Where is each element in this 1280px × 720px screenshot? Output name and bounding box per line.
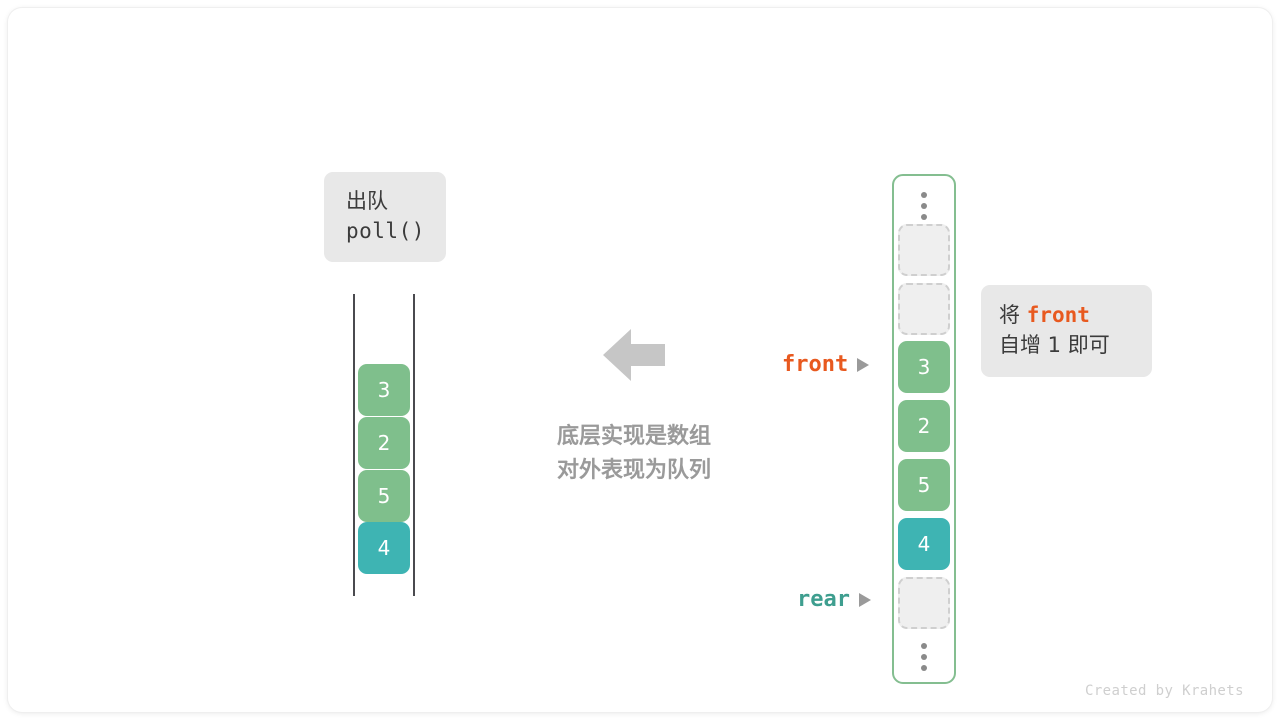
array-cell-value: 4 bbox=[918, 532, 931, 556]
array-cell: 5 bbox=[898, 459, 950, 511]
poll-callout: 出队 poll() bbox=[324, 172, 446, 262]
front-hint-prefix: 将 bbox=[999, 303, 1027, 327]
rear-pointer-text: rear bbox=[797, 587, 850, 612]
queue-cell: 2 bbox=[358, 417, 410, 469]
queue-cell-value: 3 bbox=[378, 378, 391, 402]
queue-cell: 4 bbox=[358, 522, 410, 574]
pointer-triangle-icon bbox=[859, 593, 871, 607]
poll-callout-line1: 出队 bbox=[346, 187, 446, 217]
array-cell-value: 2 bbox=[918, 414, 931, 438]
center-caption: 底层实现是数组 对外表现为队列 bbox=[536, 420, 732, 488]
queue-cell-value: 5 bbox=[378, 484, 391, 508]
queue-rail-right bbox=[413, 294, 415, 596]
top-ellipsis-icon bbox=[921, 192, 927, 220]
array-cell: 4 bbox=[898, 518, 950, 570]
array-cell-value: 5 bbox=[918, 473, 931, 497]
array-cell: 2 bbox=[898, 400, 950, 452]
queue-cell: 5 bbox=[358, 470, 410, 522]
left-arrow-icon bbox=[603, 326, 665, 384]
queue-cell-value: 4 bbox=[378, 536, 391, 560]
array-cell-empty bbox=[898, 224, 950, 276]
array-cell-empty bbox=[898, 577, 950, 629]
center-caption-line2: 对外表现为队列 bbox=[536, 454, 732, 488]
bottom-ellipsis-icon bbox=[921, 643, 927, 671]
front-hint-callout: 将 front 自增 1 即可 bbox=[981, 285, 1152, 377]
array-cell-value: 3 bbox=[918, 355, 931, 379]
front-hint-keyword: front bbox=[1027, 303, 1090, 327]
front-pointer-label: front bbox=[782, 352, 869, 377]
array-cell-empty bbox=[898, 283, 950, 335]
credit-text: Created by Krahets bbox=[1085, 683, 1244, 699]
poll-callout-line2: poll() bbox=[346, 217, 446, 247]
figure-canvas: 出队 poll() 3 2 5 4 底层实现是数组 对外表现为队列 front bbox=[8, 8, 1272, 712]
front-pointer-text: front bbox=[782, 352, 848, 377]
pointer-triangle-icon bbox=[857, 358, 869, 372]
front-hint-line2: 自增 1 即可 bbox=[999, 331, 1152, 361]
array-cell: 3 bbox=[898, 341, 950, 393]
center-caption-line1: 底层实现是数组 bbox=[536, 420, 732, 454]
front-hint-line1: 将 front bbox=[999, 301, 1152, 331]
queue-cell: 3 bbox=[358, 364, 410, 416]
logical-queue: 3 2 5 4 bbox=[353, 294, 415, 596]
array-container: 3 2 5 4 bbox=[892, 174, 956, 684]
rear-pointer-label: rear bbox=[797, 587, 871, 612]
queue-cell-value: 2 bbox=[378, 431, 391, 455]
queue-rail-left bbox=[353, 294, 355, 596]
